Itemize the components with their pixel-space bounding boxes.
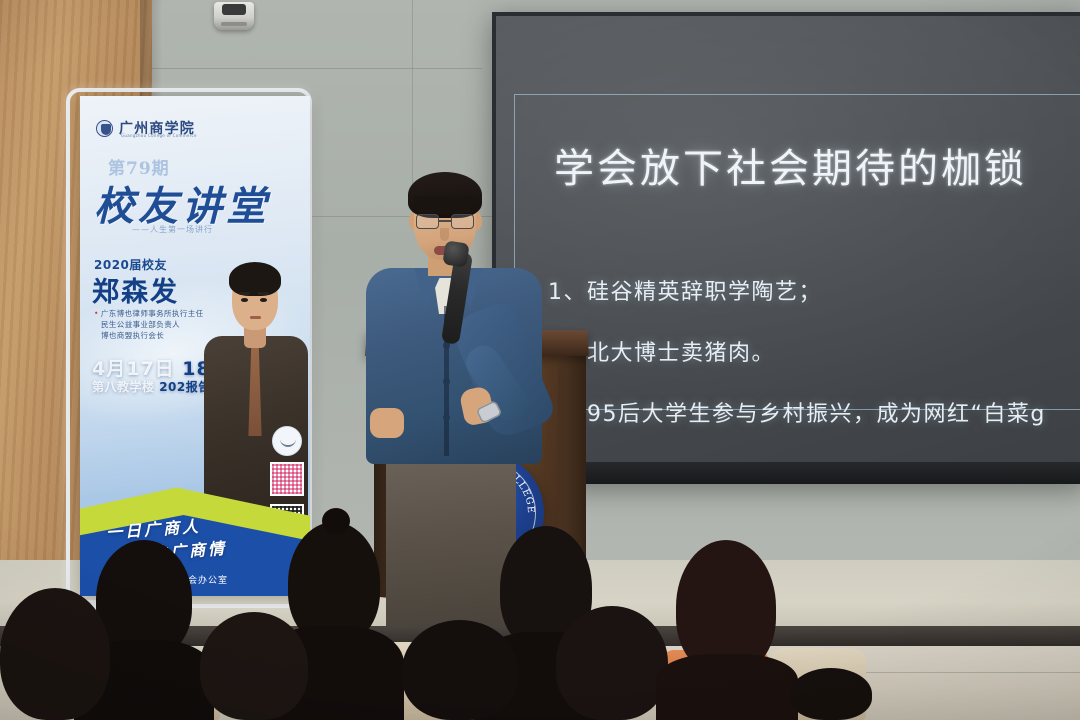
portrait-hair (229, 262, 281, 296)
audience-head-9 (790, 668, 872, 720)
portrait-brow-left (239, 292, 250, 295)
speaker-shirt-button-2 (443, 378, 450, 385)
slide-bullet-1: 1、硅谷精英辞职学陶艺； (548, 274, 1080, 306)
portrait-eye-right (260, 298, 267, 302)
speaker-brow-left (418, 210, 435, 213)
audience-body-8 (656, 654, 798, 720)
portrait-eye-left (241, 298, 248, 302)
qr-code-1-icon (270, 462, 304, 496)
speaker-left-hand (370, 408, 404, 438)
speaker-nose (440, 228, 449, 241)
poster-date: 4月17日 (92, 358, 175, 380)
glasses-lens-left (416, 214, 439, 229)
sensor-vent-icon (221, 22, 247, 26)
poster-subline: ——人生第一场讲行 (132, 224, 213, 235)
poster-school-logo: 广州商学院 Guangzhou College of Commerce (96, 118, 195, 138)
microphone-head-icon (442, 240, 469, 267)
audience-head-7 (556, 606, 668, 720)
slide-bullet-2: 2、北大博士卖猪肉。 (548, 335, 1080, 367)
slide-title: 学会放下社会期待的枷锁 (554, 136, 1027, 194)
lecture-hall-scene: 学会放下社会期待的枷锁 1、硅谷精英辞职学陶艺； 2、北大博士卖猪肉。 3、95… (0, 0, 1080, 720)
audience-hair-bun-3 (322, 508, 350, 534)
speaker-brow-right (454, 210, 471, 213)
audience-head-2 (0, 588, 110, 720)
school-emblem-icon (96, 120, 113, 137)
event-poster: 广州商学院 Guangzhou College of Commerce 第79期… (80, 96, 310, 596)
poster-speaker-name: 郑森发 (92, 270, 179, 309)
glasses-lens-right (451, 214, 474, 229)
audience-head-4 (200, 612, 308, 720)
ceiling-sensor-icon (214, 2, 254, 30)
poster-school-name-en: Guangzhou College of Commerce (121, 133, 197, 138)
glasses-bridge (439, 220, 451, 222)
smiley-badge-icon (272, 426, 302, 456)
poster-venue-building: 第八教学楼 (92, 380, 155, 394)
speaker-trousers (386, 456, 516, 626)
wall-seam-upper (152, 68, 482, 69)
audience-head-6 (402, 620, 518, 720)
slide-bullet-3: 3、95后大学生参与乡村振兴，成为网红“白菜g (548, 396, 1080, 428)
speaker-shirt-button-3 (443, 414, 450, 421)
slide-bullet-list: 1、硅谷精英辞职学陶艺； 2、北大博士卖猪肉。 3、95后大学生参与乡村振兴，成… (548, 274, 1080, 457)
portrait-brow-right (258, 292, 269, 295)
sensor-lens-icon (222, 4, 246, 15)
portrait-mouth (250, 316, 261, 319)
